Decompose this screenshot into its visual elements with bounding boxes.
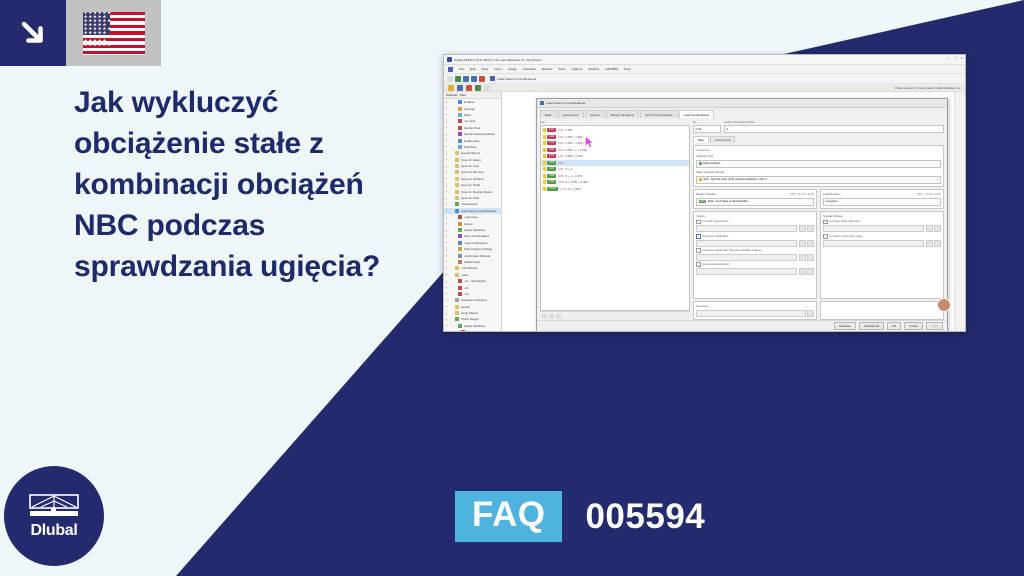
checkbox[interactable] [696, 220, 701, 225]
analysis-type-select[interactable]: Static Analysis [696, 160, 941, 168]
navigator-item-icon [455, 317, 459, 321]
navigator-item[interactable]: DS1 - ULS [444, 329, 501, 332]
option-item[interactable]: Consider construction stage [823, 234, 941, 247]
navigator-item-icon [455, 202, 459, 206]
option-item[interactable]: Structure modification [696, 234, 814, 247]
expander-icon[interactable]: ▸ [446, 267, 449, 270]
row-tag: CO1 [547, 128, 556, 132]
flag-graphic: ★★★★★★ ★★★★★ ★★★★★★ ★★★★★ ★★★★★★ ★★★★★ ★… [83, 12, 145, 55]
row-color-swatch [543, 167, 546, 171]
checkbox[interactable] [696, 248, 701, 253]
dialog-tab[interactable]: Load Combinations [679, 110, 715, 118]
expander-icon[interactable]: ▸ [446, 260, 449, 263]
navigator-item-label: Line Sets [464, 119, 476, 123]
menu-edit[interactable]: Edit [470, 67, 475, 71]
navigator-item-icon [461, 330, 465, 332]
checkbox[interactable] [823, 220, 828, 225]
option-item[interactable]: Consider initial state load [823, 220, 941, 233]
row-color-swatch [543, 128, 546, 132]
navigator-item-icon [455, 196, 459, 200]
option-edit-button[interactable] [934, 225, 941, 232]
navigator-item-icon [458, 279, 462, 283]
navigator-item-label: Surfaces [464, 100, 475, 104]
dialog-tab[interactable]: Load Cases [558, 110, 584, 118]
navigator-item-label: Types for Special Objects [461, 190, 493, 194]
navigator-item-icon [455, 183, 459, 187]
expander-icon[interactable]: ▸ [446, 101, 449, 104]
toolbar-button[interactable] [466, 85, 472, 91]
row-formula: O + 0.600 [568, 187, 580, 191]
option-input[interactable] [696, 225, 797, 232]
options-row: Options Consider imperfectionStructure m… [693, 211, 944, 299]
option-label: Quasi-permanent load [702, 263, 729, 266]
navigator-item-icon [455, 273, 459, 277]
toolbar-button[interactable] [471, 76, 477, 82]
expander-icon[interactable]: ▸ [446, 248, 449, 251]
option-picker-button[interactable] [799, 254, 806, 261]
navigator-item-icon [458, 139, 462, 143]
expander-icon[interactable]: ▸ [446, 152, 449, 155]
row-color-swatch [543, 141, 546, 145]
navigator-item-label: Relationships [464, 260, 481, 264]
navigator-item-label: Loads [461, 273, 469, 277]
design-situation-group: Design Situation NBC | Wood | 2020 SLS D… [693, 189, 817, 209]
row-name: CO6 [558, 161, 564, 165]
row-tag: CO9 [547, 180, 556, 184]
top-badge-group: ★★★★★★ ★★★★★ ★★★★★★ ★★★★★ ★★★★★★ ★★★★★ ★… [0, 0, 161, 66]
main-toolbar[interactable]: Load Cases & Combinations [444, 74, 965, 84]
static-settings-label: Static analysis settings [696, 170, 941, 174]
expander-icon[interactable]: ▸ [446, 203, 449, 206]
navigator-item-label: Design Situations [464, 324, 486, 328]
navigator-item-icon [458, 107, 462, 111]
navigator-item-label: Load Cases [464, 215, 479, 219]
sls-badge: SLS [699, 200, 707, 204]
row-name: CO9 [558, 180, 564, 184]
dialog-tab-strip[interactable]: BaseLoad CasesActionsDesign SituationsAc… [537, 108, 947, 118]
static-settings-value: SA2 - Second-order (P-Δ) | Newton-Raphso… [703, 178, 767, 181]
list-footer-toolbar[interactable] [540, 311, 690, 320]
option-label: Consider initial state load [829, 220, 859, 223]
navigator-item-icon [458, 286, 462, 290]
expander-icon[interactable]: ▸ [446, 216, 449, 219]
navigator-item-icon [455, 170, 459, 174]
expander-icon[interactable]: ▸ [446, 145, 449, 148]
dialog-content: List CO1CO11.400CO2CO21.250 + 1.500CO3CO… [537, 118, 947, 320]
navigator-item-icon [458, 247, 462, 251]
toolbar-button[interactable] [475, 85, 481, 91]
situation-duration-row: Design Situation NBC | Wood | 2020 SLS D… [693, 189, 944, 209]
checkbox[interactable] [823, 234, 828, 239]
navigator-item-icon [458, 324, 462, 328]
dialog-tab[interactable]: Action Combinations [640, 110, 678, 118]
option-picker-button[interactable] [926, 225, 933, 232]
toolbar-button[interactable] [448, 85, 454, 91]
row-tag: CO7 [547, 167, 556, 171]
toolbar-button[interactable] [455, 76, 461, 82]
dialog-button-cancel[interactable]: Cancel [904, 322, 923, 330]
expander-icon[interactable]: ▸ [446, 222, 449, 225]
expander-icon[interactable]: ▸ [446, 235, 449, 238]
option-picker-button[interactable] [799, 240, 806, 247]
row-tag: CO10 [547, 187, 558, 191]
navigator-item-icon [455, 158, 459, 162]
main-settings-panel: Categories Analysis Type Static Analysis… [693, 145, 944, 186]
combination-list-column: List CO1CO11.400CO2CO21.250 + 1.500CO3CO… [540, 120, 690, 320]
menu-view[interactable]: View [481, 67, 488, 71]
toolbar-button[interactable] [447, 76, 453, 82]
comment-preview [820, 301, 944, 320]
dlubal-logo: Dlubal [4, 466, 104, 566]
navigator-item-label: Types for Solids [461, 183, 481, 187]
add-row-button[interactable] [542, 314, 547, 319]
options-group: Options Consider imperfectionStructure m… [693, 211, 817, 299]
row-tag: CO8 [547, 174, 556, 178]
navigator-item-label: Static Analysis Settings [464, 247, 493, 251]
expander-icon[interactable]: ▸ [446, 126, 449, 129]
navigator-item-label: Member Representatives [464, 132, 495, 136]
row-color-swatch [543, 154, 546, 158]
row-formula: O + 1 + 0.370 [565, 174, 582, 178]
menu-insert[interactable]: Insert [494, 67, 502, 71]
row-formula: 1.250 + 1.500 + 0 [565, 141, 587, 145]
dialog-button-calculate[interactable]: Calculate [834, 322, 856, 330]
flag-stars: ★★★★★★ ★★★★★ ★★★★★★ ★★★★★ ★★★★★★ ★★★★★ ★… [84, 12, 110, 35]
expander-icon[interactable]: ▸ [446, 107, 449, 110]
navigator-item-label: LC3 [464, 292, 469, 296]
comment-edit-button[interactable] [807, 310, 814, 317]
close-icon[interactable]: ✕ [960, 56, 963, 60]
row-name: CO3 [558, 141, 564, 145]
expander-icon[interactable]: ▸ [446, 273, 449, 276]
user-avatar[interactable] [937, 298, 951, 312]
arrow-down-right-icon [0, 0, 66, 66]
app-body: Navigator Data ▸Surfaces▸Openings▸Solids… [444, 92, 965, 332]
combination-detail-column: No. CO6 Load Combination Name 0 Main [693, 120, 944, 320]
navigator-item-label: Results [461, 305, 470, 309]
menu-assign[interactable]: Assign [508, 67, 517, 71]
doc-tab-icon [490, 76, 495, 81]
special-options-list[interactable]: Consider initial state loadConsider cons… [823, 220, 941, 249]
navigator-item-label: Solids [464, 113, 472, 117]
delete-row-button[interactable] [549, 314, 554, 319]
expander-icon[interactable]: ▸ [446, 171, 449, 174]
navigator-item-icon [458, 113, 462, 117]
options-list[interactable]: Consider imperfectionStructure modificat… [696, 220, 814, 277]
design-situation-value: DS2 - Limit State of Serviceability [708, 200, 748, 203]
license-note: Online License 5 | Cross Class | Dlubal … [895, 86, 961, 90]
option-edit-button[interactable] [807, 268, 814, 275]
copy-row-button[interactable] [556, 314, 561, 319]
menu-help[interactable]: Help [624, 67, 630, 71]
menu-app-icon [448, 67, 453, 72]
dialog-tab[interactable]: Design Situations [606, 110, 639, 118]
option-edit-button[interactable] [807, 240, 814, 247]
expander-icon[interactable]: ▸ [446, 209, 449, 212]
detail-sub-tabs[interactable]: Main Assignment [693, 136, 944, 144]
option-edit-button[interactable] [934, 240, 941, 247]
navigator-item-icon [455, 209, 459, 213]
navigator-item-label: Actions [464, 222, 473, 226]
navigator-item-label: Imperfections [461, 202, 478, 206]
row-formula: O + 1 [565, 167, 572, 171]
row-formula: O + 0.591 + 0.469 [565, 180, 588, 184]
option-picker-button[interactable] [926, 240, 933, 247]
navigator-item-label: Member Sets [464, 126, 481, 130]
row-name: CO4 [558, 148, 564, 152]
expander-icon[interactable]: ▸ [446, 177, 449, 180]
menu-file[interactable]: File [459, 67, 464, 71]
expander-icon[interactable]: ▸ [446, 292, 449, 295]
model-work-area[interactable]: Load Cases & Combinations BaseLoad Cases… [502, 92, 965, 332]
row-color-swatch [543, 180, 546, 184]
menu-window[interactable]: Window [588, 67, 599, 71]
navigator-item-icon [458, 292, 462, 296]
row-color-swatch [543, 135, 546, 139]
expander-icon[interactable]: ▸ [446, 190, 449, 193]
expander-icon[interactable]: ▸ [446, 133, 449, 136]
us-flag-icon: ★★★★★★ ★★★★★ ★★★★★★ ★★★★★ ★★★★★★ ★★★★★ ★… [66, 0, 161, 66]
navigator-item-icon [458, 132, 462, 136]
design-situation-label: Design Situation [696, 192, 716, 196]
chevron-down-icon[interactable]: ▾ [937, 178, 938, 181]
navigator-item-label: Combination Wizards [464, 254, 491, 258]
no-label: No. [693, 120, 721, 124]
special-options-label: Special Options [823, 214, 843, 218]
expander-icon[interactable]: ▸ [446, 280, 449, 283]
analysis-type-label: Analysis Type [696, 154, 941, 158]
expander-icon[interactable]: ▸ [446, 113, 449, 116]
dialog-button-calculate-all[interactable]: Calculate All [859, 322, 884, 330]
expander-icon[interactable]: ▸ [446, 312, 449, 315]
sub-tab-assignment[interactable]: Assignment [710, 136, 735, 144]
expander-icon[interactable]: ▸ [446, 120, 449, 123]
maximize-icon[interactable]: ☐ [954, 56, 957, 60]
expander-icon[interactable]: ▸ [446, 324, 449, 327]
option-label: Consider construction stage [829, 235, 862, 238]
menu-cadbim[interactable]: CAD/BIM [605, 67, 618, 71]
navigator-item-icon [458, 126, 462, 130]
navigator-item-label: Load Wizards [461, 266, 478, 270]
expander-icon[interactable]: ▸ [446, 318, 449, 321]
window-controls[interactable]: — ☐ ✕ [947, 56, 963, 60]
dialog-button-apply[interactable]: Apply [926, 322, 943, 330]
load-cases-combinations-dialog[interactable]: Load Cases & Combinations BaseLoad Cases… [536, 98, 948, 332]
row-formula: 1.400 [565, 128, 572, 132]
navigator-panel[interactable]: Navigator Data ▸Surfaces▸Openings▸Solids… [444, 92, 502, 332]
comment-label: Comment [696, 304, 708, 308]
design-situation-standard: NBC | Wood | 2020 [790, 192, 814, 196]
expander-icon[interactable]: ▸ [446, 158, 449, 161]
menu-calculate[interactable]: Calculate [523, 67, 536, 71]
expander-icon[interactable]: ▸ [446, 241, 449, 244]
navigator-item-icon [455, 151, 459, 155]
secondary-toolbar[interactable]: Online License 5 | Cross Class | Dlubal … [444, 84, 965, 92]
navigator-item-icon [455, 177, 459, 181]
design-situation-select[interactable]: SLS DS2 - Limit State of Serviceability [696, 198, 814, 206]
menu-bar[interactable]: File Edit View Insert Assign Calculate R… [444, 65, 965, 74]
navigator-item-icon [458, 222, 462, 226]
toolbar-button[interactable] [479, 76, 485, 82]
toolbar-button[interactable] [457, 85, 463, 91]
row-color-swatch [543, 174, 546, 178]
navigator-item-label: Design Situations [464, 228, 486, 232]
navigator-item-icon [458, 145, 462, 149]
navigator-item-icon [458, 228, 462, 232]
no-input[interactable]: CO6 [693, 125, 721, 133]
toolbar-button[interactable] [484, 85, 490, 91]
comment-input[interactable] [696, 310, 806, 317]
navigator-item-icon [455, 298, 459, 302]
faq-badge: FAQ [455, 491, 562, 542]
toolbar-button[interactable] [463, 76, 469, 82]
navigator-item-label: Special Objects [461, 151, 480, 155]
expander-icon[interactable]: ▸ [446, 165, 449, 168]
checkbox[interactable] [696, 262, 701, 267]
option-input[interactable] [696, 240, 797, 247]
row-tag: CO3 [547, 141, 556, 145]
navigator-item-label: Solid Sets [464, 145, 477, 149]
navigator-tree[interactable]: ▸Surfaces▸Openings▸Solids▸Line Sets▸Memb… [444, 99, 501, 332]
row-color-swatch [543, 161, 546, 165]
menu-tools[interactable]: Tools [558, 67, 565, 71]
navigator-item-icon [455, 164, 459, 168]
row-color-swatch [543, 187, 546, 191]
navigator-item-label: Types for Nodes [461, 158, 481, 162]
row-name: CO8 [558, 174, 564, 178]
sub-tab-main[interactable]: Main [693, 136, 709, 144]
dialog-title: Load Cases & Combinations [546, 101, 585, 105]
navigator-item-icon [455, 311, 459, 315]
static-settings-select[interactable]: SA2 - Second-order (P-Δ) | Newton-Raphso… [696, 176, 941, 184]
option-item[interactable]: Consider imperfection [696, 220, 814, 233]
option-input[interactable] [696, 254, 797, 261]
expander-icon[interactable]: ▸ [446, 299, 449, 302]
navigator-item-label: LC1 - Self-Weight [464, 279, 486, 283]
categories-label: Categories [696, 148, 941, 152]
dialog-title-bar: Load Cases & Combinations [537, 99, 947, 108]
right-toolbar[interactable] [954, 92, 965, 332]
option-input[interactable] [823, 240, 924, 247]
dialog-button-bar[interactable]: CalculateCalculate AllOKCancelApply [537, 320, 947, 331]
navigator-item-label: Types for Lines [461, 164, 480, 168]
load-duration-select[interactable]: Long-term [823, 198, 941, 206]
expander-icon[interactable]: ▸ [446, 229, 449, 232]
option-label: Consider imperfection [702, 220, 728, 223]
navigator-item-label: Types for Members [461, 170, 485, 174]
navigator-item-label: DS1 - ULS [467, 330, 480, 332]
option-item[interactable]: Quasi-permanent load [696, 262, 814, 275]
expander-icon[interactable]: ▸ [446, 305, 449, 308]
navigator-item-label: Timber Design [461, 317, 479, 321]
row-color-swatch [543, 148, 546, 152]
app-title: Dlubal RFEM 6 (6.07.0037) | nbc load def… [454, 58, 542, 62]
option-label: Structure modification [702, 235, 728, 238]
mouse-cursor-icon [585, 136, 594, 149]
option-picker-button[interactable] [799, 268, 806, 275]
row-name: CO7 [558, 167, 564, 171]
rfem-application-screenshot: Dlubal RFEM 6 (6.07.0037) | nbc load def… [443, 54, 966, 332]
option-picker-button[interactable] [799, 225, 806, 232]
option-input[interactable] [696, 268, 797, 275]
navigator-item-icon [458, 241, 462, 245]
option-edit-button[interactable] [807, 254, 814, 261]
checkbox[interactable] [696, 234, 701, 239]
faq-number: 005594 [585, 498, 705, 536]
load-combination-list[interactable]: CO1CO11.400CO2CO21.250 + 1.500CO3CO31.25… [540, 125, 690, 311]
comment-group: Comment [693, 301, 817, 320]
expander-icon[interactable]: ▸ [446, 139, 449, 142]
navigator-item-label: Guide Objects [461, 311, 479, 315]
expander-icon[interactable]: ▸ [446, 286, 449, 289]
navigator-item-icon [455, 266, 459, 270]
detail-header-row: No. CO6 Load Combination Name 0 [693, 120, 944, 133]
navigator-item-icon [458, 100, 462, 104]
dialog-tab[interactable]: Actions [585, 110, 605, 118]
option-edit-button[interactable] [807, 225, 814, 232]
navigator-item-icon [458, 254, 462, 258]
navigator-item-icon [455, 305, 459, 309]
option-input[interactable] [823, 225, 924, 232]
minimize-icon[interactable]: — [947, 56, 950, 60]
row-formula: 1.250 + 1.500 [565, 135, 582, 139]
navigator-item-label: Load Combinations [464, 241, 488, 245]
navigator-tab-navigator[interactable]: Navigator [446, 93, 458, 97]
faq-footer: FAQ 005594 [455, 491, 705, 542]
expander-icon[interactable]: ▸ [446, 184, 449, 187]
menu-options[interactable]: Options [572, 67, 583, 71]
option-label: Calculate critical load | Structure Stab… [702, 249, 761, 252]
option-item[interactable]: Calculate critical load | Structure Stab… [696, 248, 814, 261]
dialog-tab[interactable]: Base [540, 110, 557, 118]
row-tag: CO5 [547, 154, 556, 158]
load-duration-label: Load Duration [823, 192, 841, 196]
expander-icon[interactable]: ▸ [446, 197, 449, 200]
logo-text: Dlubal [30, 523, 77, 539]
navigator-item-icon [458, 215, 462, 219]
no-field[interactable]: No. CO6 [693, 120, 721, 133]
name-label: Load Combination Name [724, 120, 944, 124]
name-field[interactable]: Load Combination Name 0 [724, 120, 944, 133]
navigator-item-label: Action Combinations [464, 234, 490, 238]
menu-results[interactable]: Results [542, 67, 552, 71]
navigator-item-label: Types for Surfaces [461, 177, 484, 181]
load-combination-row[interactable]: CO10CO10O + 0.600 [541, 186, 689, 193]
navigator-item-icon [458, 260, 462, 264]
row-formula: 1.250 + z + 1.500 [565, 148, 587, 152]
analysis-type-value: Static Analysis [703, 162, 720, 165]
navigator-item-label: Calculation Diagrams [461, 298, 488, 302]
document-tab-label[interactable]: Load Cases & Combinations [497, 77, 536, 81]
name-input[interactable]: 0 [724, 125, 944, 133]
expander-icon[interactable]: ▸ [446, 254, 449, 257]
navigator-item-label: LC2 [464, 286, 469, 290]
navigator-item-icon [455, 190, 459, 194]
row-name: CO2 [558, 135, 564, 139]
load-duration-group: Load Duration NBC | Wood | 2020 Long-ter… [820, 189, 944, 209]
dialog-icon [540, 101, 544, 105]
row-tag: CO6 [547, 161, 556, 165]
dialog-button-ok[interactable]: OK [887, 322, 901, 330]
navigator-item-label: Surface Sets [464, 139, 480, 143]
list-caption: List [540, 120, 690, 124]
navigator-item-label: Load Cases & Combinations [461, 209, 496, 213]
app-icon [447, 57, 452, 62]
options-label: Options [696, 214, 706, 218]
navigator-item-icon [458, 234, 462, 238]
navigator-tab-data[interactable]: Data [460, 93, 466, 97]
navigator-tabs[interactable]: Navigator Data [444, 92, 501, 99]
